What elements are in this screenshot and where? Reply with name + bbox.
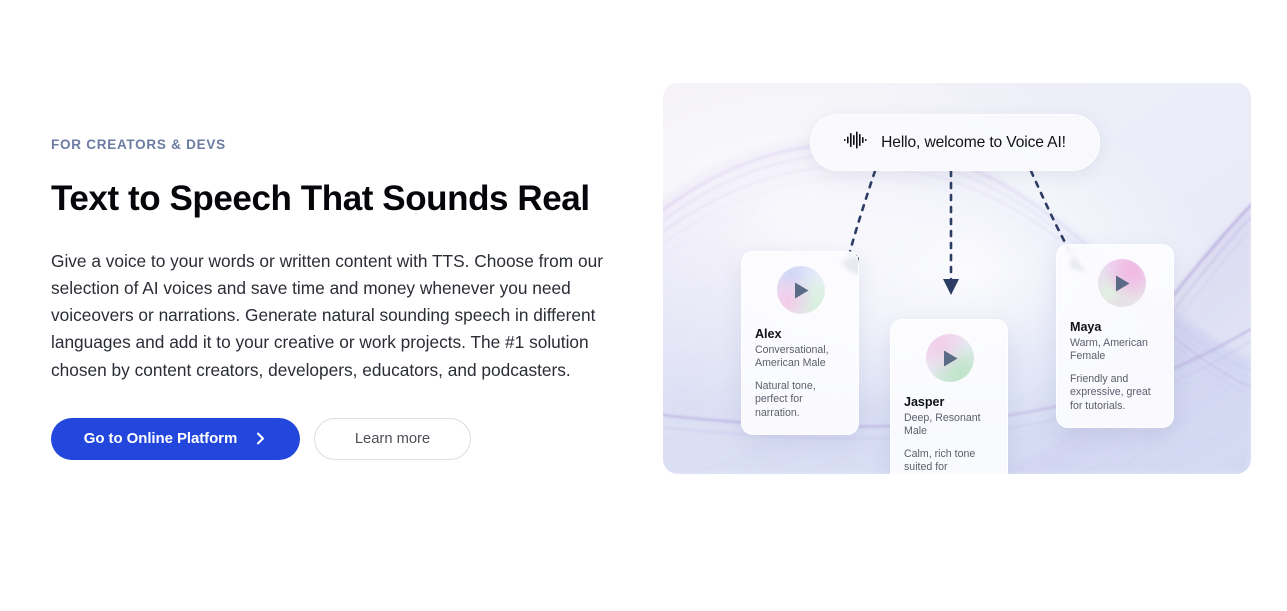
hero-description: Give a voice to your words or written co… — [51, 248, 643, 384]
voice-avatar-play-jasper[interactable] — [926, 334, 974, 382]
voice-description: Calm, rich tone suited for podcasts. — [904, 448, 994, 474]
chevron-right-icon — [254, 432, 267, 445]
voice-greeting-bubble: Hello, welcome to Voice AI! — [810, 114, 1100, 171]
hero-section: FOR CREATORS & DEVS Text to Speech That … — [0, 0, 1287, 611]
arrow-head-jasper — [943, 279, 959, 295]
voice-role: Conversational, American Male — [755, 344, 845, 371]
voice-avatar-play-alex[interactable] — [777, 266, 825, 314]
hero-copy-column: FOR CREATORS & DEVS Text to Speech That … — [51, 138, 651, 460]
primary-button-label: Go to Online Platform — [84, 430, 237, 447]
go-to-online-platform-button[interactable]: Go to Online Platform — [51, 418, 300, 460]
voice-card-jasper[interactable]: Jasper Deep, Resonant Male Calm, rich to… — [890, 319, 1008, 474]
voice-card-maya[interactable]: Maya Warm, American Female Friendly and … — [1056, 244, 1174, 428]
cta-button-row: Go to Online Platform Learn more — [51, 418, 651, 460]
voice-card-alex[interactable]: Alex Conversational, American Male Natur… — [741, 251, 859, 435]
page-title: Text to Speech That Sounds Real — [51, 179, 651, 218]
eyebrow-label: FOR CREATORS & DEVS — [51, 138, 651, 153]
voice-name: Alex — [755, 327, 845, 342]
secondary-button-label: Learn more — [355, 431, 430, 447]
play-icon — [1114, 274, 1131, 293]
voice-role: Deep, Resonant Male — [904, 412, 994, 439]
voice-description: Natural tone, perfect for narration. — [755, 380, 845, 421]
voice-avatar-play-maya[interactable] — [1098, 259, 1146, 307]
voice-description: Friendly and expressive, great for tutor… — [1070, 373, 1160, 414]
audio-waveform-icon — [844, 131, 868, 154]
bubble-text: Hello, welcome to Voice AI! — [881, 134, 1066, 152]
voice-preview-panel: Hello, welcome to Voice AI! Alex Convers… — [663, 83, 1251, 474]
play-icon — [942, 349, 959, 368]
play-icon — [793, 281, 810, 300]
voice-name: Jasper — [904, 395, 994, 410]
learn-more-button[interactable]: Learn more — [314, 418, 471, 460]
voice-name: Maya — [1070, 320, 1160, 335]
voice-role: Warm, American Female — [1070, 337, 1160, 364]
